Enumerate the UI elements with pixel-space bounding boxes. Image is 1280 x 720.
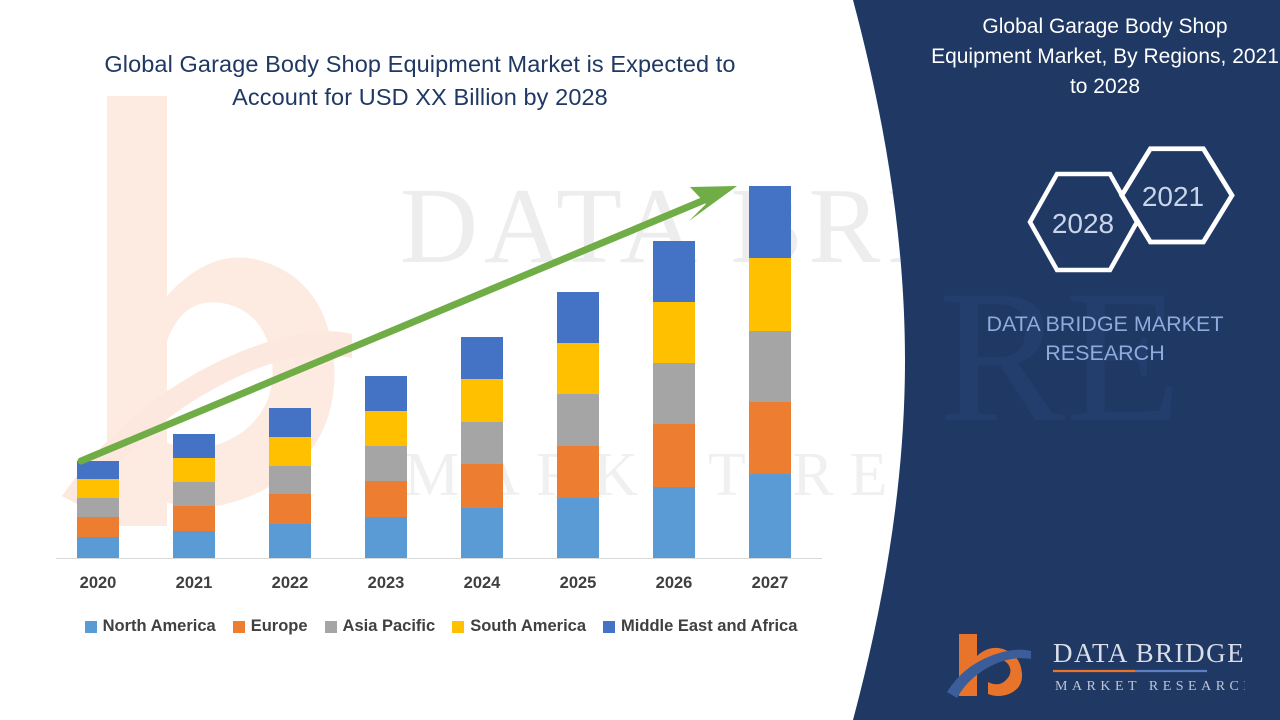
hexagon-2021-label: 2021 (1142, 181, 1204, 212)
bar-segment-europe-2027 (749, 402, 791, 475)
bar-segment-middle-east-and-africa-2020 (77, 461, 119, 480)
bar-segment-europe-2025 (557, 446, 599, 499)
logo-primary-text: DATA BRIDGE (1053, 638, 1245, 668)
bar-segment-north-america-2027 (749, 474, 791, 558)
bar-segment-south-america-2023 (365, 411, 407, 446)
plot-area: 20202021202220232024202520262027 (0, 0, 900, 720)
bar-segment-asia-pacific-2021 (173, 482, 215, 506)
bar-segment-south-america-2020 (77, 479, 119, 498)
x-axis-label-2025: 2025 (538, 574, 618, 593)
bar-segment-asia-pacific-2020 (77, 498, 119, 517)
legend-swatch-south-america (452, 621, 464, 633)
bar-2021 (173, 434, 215, 558)
legend-swatch-asia-pacific (325, 621, 337, 633)
legend-item-north-america[interactable]: North America (85, 617, 216, 636)
bar-2024 (461, 337, 503, 558)
bar-segment-middle-east-and-africa-2023 (365, 376, 407, 411)
bar-segment-south-america-2024 (461, 379, 503, 422)
bar-segment-asia-pacific-2026 (653, 363, 695, 424)
x-axis-label-2026: 2026 (634, 574, 714, 593)
bar-2023 (365, 376, 407, 559)
bar-segment-south-america-2021 (173, 458, 215, 482)
bar-segment-north-america-2020 (77, 537, 119, 558)
bar-segment-asia-pacific-2027 (749, 331, 791, 402)
bar-segment-north-america-2022 (269, 524, 311, 558)
legend-swatch-north-america (85, 621, 97, 633)
logo-b-mark (947, 634, 1031, 698)
bar-2026 (653, 241, 695, 559)
hexagon-year-badges: 2021 2028 (955, 140, 1255, 280)
x-axis-label-2021: 2021 (154, 574, 234, 593)
legend-swatch-middle-east-and-africa (603, 621, 615, 633)
bar-segment-europe-2026 (653, 424, 695, 487)
bar-segment-middle-east-and-africa-2025 (557, 292, 599, 343)
bar-2025 (557, 292, 599, 558)
bar-segment-asia-pacific-2025 (557, 394, 599, 445)
bar-segment-europe-2023 (365, 481, 407, 517)
bar-segment-asia-pacific-2024 (461, 422, 503, 465)
bar-segment-europe-2020 (77, 517, 119, 537)
left-chart-panel: DATA BRIDGE MARKET RESEARCH Global Garag… (0, 0, 900, 720)
x-axis-label-2024: 2024 (442, 574, 522, 593)
x-axis-label-2023: 2023 (346, 574, 426, 593)
x-axis-line (56, 558, 822, 559)
right-panel-title: Global Garage Body Shop Equipment Market… (930, 12, 1280, 102)
bar-segment-north-america-2025 (557, 498, 599, 558)
brand-name-text: DATA BRIDGE MARKET RESEARCH (930, 310, 1280, 368)
bar-segment-south-america-2022 (269, 437, 311, 466)
legend-label-asia-pacific: Asia Pacific (343, 617, 436, 636)
dbmr-logo: DATA BRIDGE MARKET RESEARCH (945, 630, 1245, 700)
legend-item-europe[interactable]: Europe (233, 617, 308, 636)
legend-label-south-america: South America (470, 617, 586, 636)
hexagon-2028-label: 2028 (1052, 208, 1114, 239)
legend-item-south-america[interactable]: South America (452, 617, 586, 636)
x-axis-label-2027: 2027 (730, 574, 810, 593)
bar-2027 (749, 186, 791, 559)
bar-2020 (77, 461, 119, 559)
legend-item-asia-pacific[interactable]: Asia Pacific (325, 617, 436, 636)
bar-segment-europe-2024 (461, 464, 503, 508)
bar-segment-north-america-2021 (173, 531, 215, 559)
bar-segment-south-america-2025 (557, 343, 599, 394)
bar-segment-europe-2021 (173, 506, 215, 531)
right-panel-content: Global Garage Body Shop Equipment Market… (940, 0, 1280, 720)
logo-secondary-text: MARKET RESEARCH (1055, 679, 1245, 694)
legend-item-middle-east-and-africa[interactable]: Middle East and Africa (603, 617, 797, 636)
bar-segment-north-america-2024 (461, 508, 503, 558)
bar-segment-asia-pacific-2023 (365, 446, 407, 481)
infographic-canvas: DATA BRIDGE MARKET RESEARCH Global Garag… (0, 0, 1280, 720)
chart-legend: North AmericaEuropeAsia PacificSouth Ame… (56, 617, 826, 636)
bar-2022 (269, 408, 311, 558)
bar-segment-middle-east-and-africa-2026 (653, 241, 695, 302)
bar-segment-south-america-2026 (653, 302, 695, 363)
bar-segment-south-america-2027 (749, 258, 791, 331)
bar-segment-middle-east-and-africa-2022 (269, 408, 311, 437)
legend-label-europe: Europe (251, 617, 308, 636)
bar-segment-europe-2022 (269, 494, 311, 524)
legend-label-north-america: North America (103, 617, 216, 636)
x-axis-label-2022: 2022 (250, 574, 330, 593)
legend-swatch-europe (233, 621, 245, 633)
bar-segment-north-america-2023 (365, 517, 407, 558)
bar-segment-middle-east-and-africa-2024 (461, 337, 503, 380)
bar-segment-middle-east-and-africa-2027 (749, 186, 791, 259)
bar-segment-asia-pacific-2022 (269, 466, 311, 495)
legend-label-middle-east-and-africa: Middle East and Africa (621, 617, 797, 636)
x-axis-label-2020: 2020 (58, 574, 138, 593)
bar-segment-middle-east-and-africa-2021 (173, 434, 215, 458)
bar-segment-north-america-2026 (653, 487, 695, 558)
